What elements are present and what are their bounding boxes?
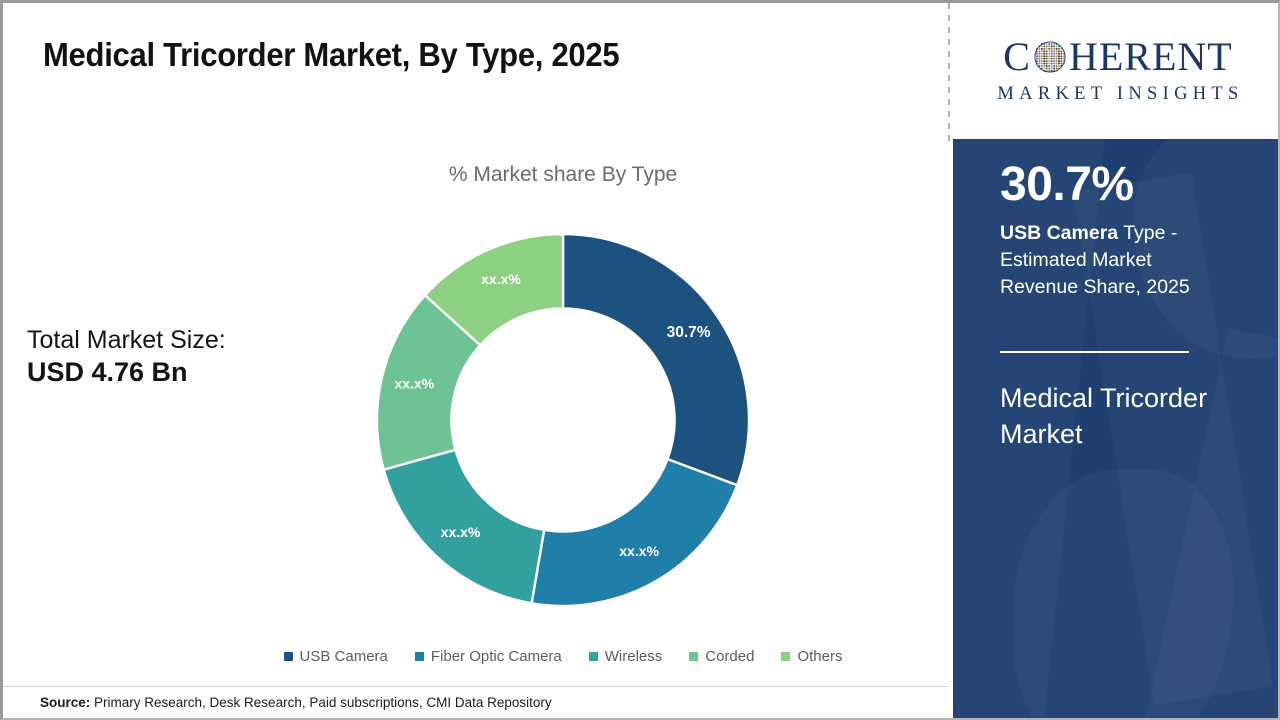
globe-dot [1053,60,1055,62]
globe-dot [1048,67,1050,69]
legend-item[interactable]: Others [781,648,842,665]
globe-dot [1056,45,1058,47]
globe-dot [1053,43,1055,45]
legend-swatch-icon [415,652,424,661]
globe-dot [1053,48,1055,50]
legend-item[interactable]: USB Camera [284,648,388,665]
legend-item[interactable]: Corded [689,648,754,665]
globe-dot [1041,50,1043,52]
stat-description: USB Camera Type - Estimated Market Reven… [1000,220,1230,301]
globe-dot [1056,67,1058,69]
globe-dot [1038,60,1040,62]
panel-rule [1000,351,1189,353]
globe-dot [1048,65,1050,67]
globe-dot [1053,50,1055,52]
globe-dot [1046,58,1048,60]
globe-dot [1051,65,1053,67]
globe-dot [1038,55,1040,57]
legend-swatch-icon [689,652,698,661]
globe-dot [1060,50,1062,52]
logo-word-herent: HERENT [1069,37,1233,77]
globe-dot [1060,58,1062,60]
donut-chart: 30.7%xx.x%xx.x%xx.x%xx.x% [377,234,749,606]
globe-dot [1038,53,1040,55]
globe-dot [1043,53,1045,55]
total-market-size-label: Total Market Size: [27,325,226,356]
globe-dot [1051,43,1053,45]
globe-dot [1053,55,1055,57]
globe-dot [1056,65,1058,67]
globe-dot [1048,50,1050,52]
globe-dot [1041,53,1043,55]
legend-item[interactable]: Fiber Optic Camera [415,648,562,665]
globe-dot [1038,48,1040,50]
globe-dot [1041,55,1043,57]
logo-word-c: C [1003,37,1031,77]
globe-dot [1043,48,1045,50]
globe-dot [1053,65,1055,67]
globe-dot [1056,60,1058,62]
legend-swatch-icon [284,652,293,661]
donut-slice [532,459,738,606]
globe-dot [1046,65,1048,67]
globe-dot [1048,58,1050,60]
source-text: Primary Research, Desk Research, Paid su… [90,695,551,710]
globe-dot [1043,50,1045,52]
globe-dot [1060,63,1062,65]
globe-dot [1060,53,1062,55]
total-market-size-block: Total Market Size: USD 4.76 Bn [27,325,226,389]
globe-dot [1036,55,1038,57]
globe-dot [1048,53,1050,55]
globe-dot [1043,58,1045,60]
globe-dot [1048,55,1050,57]
donut-slice-label: xx.x% [394,375,434,391]
globe-dot [1048,45,1050,47]
globe-dot [1051,58,1053,60]
globe-dot [1053,45,1055,47]
globe-dot [1060,55,1062,57]
donut-slice [563,234,749,485]
donut-slice-group [377,234,749,606]
globe-dot [1046,48,1048,50]
globe-dot [1041,60,1043,62]
legend-label: Fiber Optic Camera [431,648,562,665]
globe-dot [1036,58,1038,60]
globe-dot [1043,67,1045,69]
chart-main-area: Medical Tricorder Market, By Type, 2025 … [3,3,948,720]
globe-dot [1043,55,1045,57]
panel-divider [948,3,950,143]
globe-dot [1041,65,1043,67]
globe-dot [1053,58,1055,60]
globe-dot [1038,63,1040,65]
stat-description-bold: USB Camera [1000,222,1118,244]
globe-dot [1058,63,1060,65]
infographic-canvas: Medical Tricorder Market, By Type, 2025 … [0,0,1280,720]
globe-dot [1051,60,1053,62]
globe-dot [1058,55,1060,57]
globe-dot [1051,63,1053,65]
source-label: Source: [40,695,90,710]
globe-dot [1051,48,1053,50]
donut-slice-label: xx.x% [441,524,481,540]
total-market-size-value: USD 4.76 Bn [27,356,226,390]
globe-dot [1058,50,1060,52]
globe-dot [1056,48,1058,50]
globe-dot [1056,63,1058,65]
source-line: Source: Primary Research, Desk Research,… [40,695,552,710]
legend-label: Others [797,648,842,665]
globe-dot [1048,43,1050,45]
globe-dot [1051,55,1053,57]
globe-dot [1046,43,1048,45]
globe-dot [1043,63,1045,65]
globe-dot [1051,50,1053,52]
footer-divider [3,686,948,687]
globe-dot [1043,45,1045,47]
globe-dot [1056,55,1058,57]
globe-dot [1058,65,1060,67]
globe-dot [1043,65,1045,67]
globe-dot [1046,55,1048,57]
globe-dot [1046,60,1048,62]
globe-dot [1053,67,1055,69]
donut-chart-svg: 30.7%xx.x%xx.x%xx.x%xx.x% [377,234,749,606]
globe-dot-matrix-icon [1032,39,1068,75]
globe-dot [1058,58,1060,60]
globe-dot [1043,60,1045,62]
globe-dot [1046,53,1048,55]
globe-dot [1048,48,1050,50]
globe-dot [1046,63,1048,65]
page-title: Medical Tricorder Market, By Type, 2025 [43,36,619,74]
stat-percent-value: 30.7% [1000,161,1134,209]
globe-dot [1051,45,1053,47]
legend-swatch-icon [589,652,598,661]
globe-dot [1041,48,1043,50]
globe-dot [1041,45,1043,47]
globe-dot [1051,53,1053,55]
legend-label: Corded [705,648,754,665]
globe-dot [1058,60,1060,62]
logo-tagline: MARKET INSIGHTS [992,84,1243,105]
donut-slice-label: xx.x% [481,271,521,287]
donut-slice-label: 30.7% [667,324,711,341]
logo-wordmark: C HERENT [1003,37,1232,77]
legend-swatch-icon [781,652,790,661]
donut-slice-label: xx.x% [619,543,659,559]
globe-dot [1048,63,1050,65]
globe-dot [1046,45,1048,47]
globe-dot [1053,53,1055,55]
globe-dot [1046,50,1048,52]
globe-dot [1058,53,1060,55]
globe-dot [1038,50,1040,52]
legend-item[interactable]: Wireless [589,648,663,665]
panel-market-name: Medical Tricorder Market [1000,381,1220,452]
globe-dot [1036,53,1038,55]
globe-dot [1046,67,1048,69]
globe-dot [1048,60,1050,62]
globe-dot [1041,63,1043,65]
globe-dot [1053,63,1055,65]
globe-dot [1058,48,1060,50]
globe-dot [1056,58,1058,60]
highlight-panel: 30.7% USB Camera Type - Estimated Market… [953,139,1280,720]
globe-dot [1041,58,1043,60]
globe-dot [1056,50,1058,52]
globe-dot [1051,67,1053,69]
panel-background-shape [1013,469,1233,720]
globe-dot [1060,60,1062,62]
globe-dot [1036,60,1038,62]
globe-dot [1056,53,1058,55]
legend-label: Wireless [605,648,663,665]
legend-label: USB Camera [300,648,388,665]
globe-dot [1038,58,1040,60]
brand-logo: C HERENT MARKET INSIGHTS [953,3,1280,139]
